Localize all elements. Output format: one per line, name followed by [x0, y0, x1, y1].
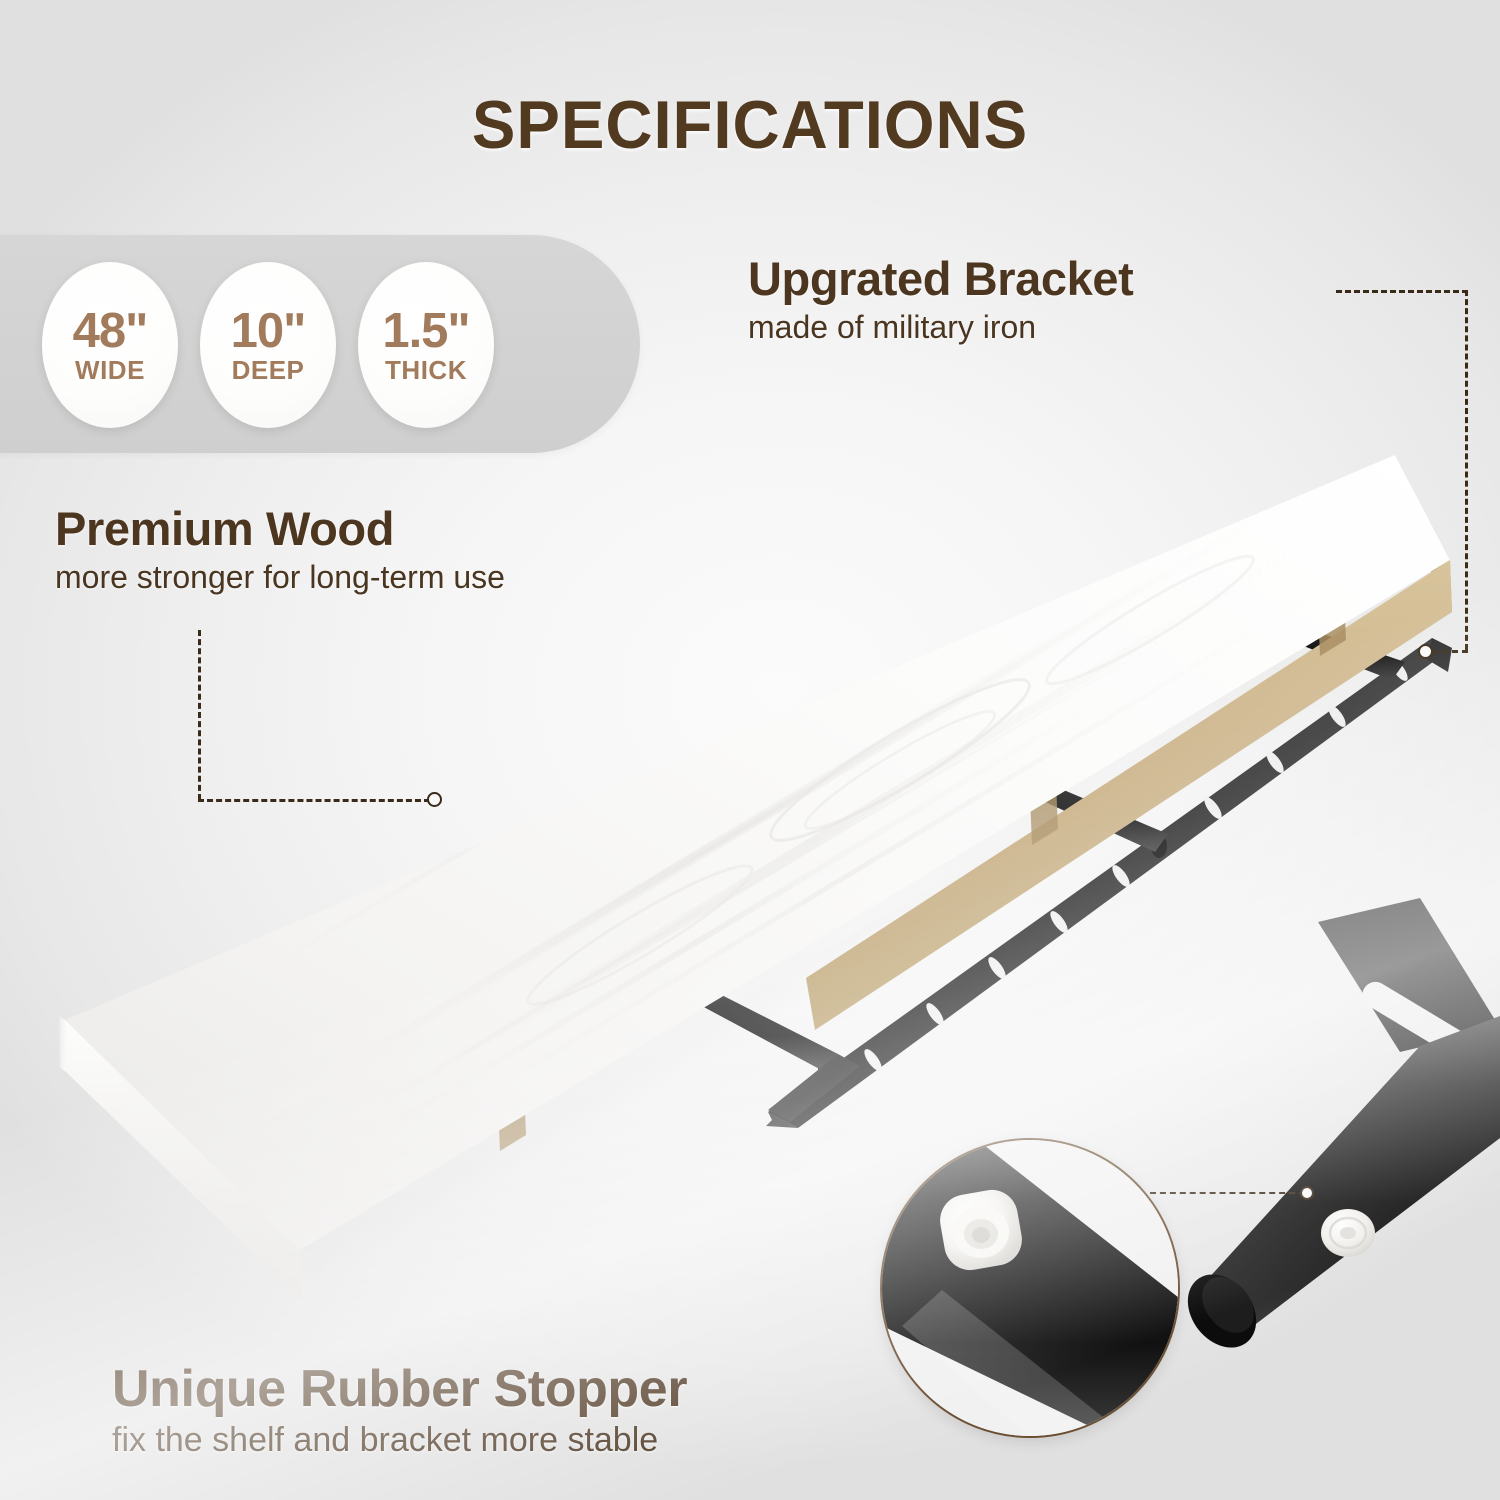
leader-endpoint-dot	[1300, 1186, 1314, 1200]
spec-label: THICK	[385, 357, 467, 383]
spec-label: DEEP	[232, 357, 305, 383]
leader-segment-vertical	[198, 630, 201, 800]
callout-heading: Premium Wood	[55, 505, 505, 554]
spec-value: 10"	[231, 307, 306, 356]
spec-badge-width: 48" WIDE	[42, 262, 178, 428]
leader-segment-top	[1336, 290, 1468, 293]
spec-badge-depth: 10" DEEP	[200, 262, 336, 428]
callout-heading: Unique Rubber Stopper	[112, 1362, 687, 1416]
leader-endpoint-dot	[427, 792, 442, 807]
page-title: SPECIFICATIONS	[30, 86, 1470, 164]
callout-subtext: made of military iron	[748, 310, 1133, 345]
spec-value: 1.5"	[382, 307, 469, 356]
magnifier-content	[882, 1140, 1180, 1438]
rubber-stopper-center	[1340, 1227, 1356, 1239]
detached-bracket	[1174, 898, 1500, 1361]
callout-upgraded-bracket: Upgrated Bracket made of military iron	[748, 255, 1133, 345]
spec-label: WIDE	[75, 357, 145, 383]
leader-endpoint-dot	[1418, 644, 1433, 659]
leader-segment-right	[1465, 290, 1468, 650]
callout-subtext: fix the shelf and bracket more stable	[112, 1422, 687, 1459]
product-photo	[0, 0, 1500, 1500]
callout-heading: Upgrated Bracket	[748, 255, 1133, 304]
magnified-stopper-hole	[972, 1227, 990, 1243]
stopper-magnifier-inset	[880, 1138, 1180, 1438]
spec-badge-thickness: 1.5" THICK	[358, 262, 494, 428]
product-illustration	[0, 0, 1500, 1500]
shelf-left-cap	[59, 1016, 66, 1072]
callout-premium-wood: Premium Wood more stronger for long-term…	[55, 505, 505, 595]
callout-rubber-stopper: Unique Rubber Stopper fix the shelf and …	[112, 1362, 687, 1459]
leader-segment-horizontal	[1150, 1192, 1305, 1194]
leader-segment-horizontal	[198, 799, 430, 802]
bracket-tube	[1196, 1016, 1500, 1330]
leader-segment-bottom	[1432, 650, 1468, 653]
callout-subtext: more stronger for long-term use	[55, 560, 505, 595]
spec-badge-group: 48" WIDE 10" DEEP 1.5" THICK	[42, 262, 494, 428]
spec-value: 48"	[73, 307, 148, 356]
infographic-canvas: SPECIFICATIONS 48" WIDE 10" DEEP 1.5" TH…	[0, 0, 1500, 1500]
